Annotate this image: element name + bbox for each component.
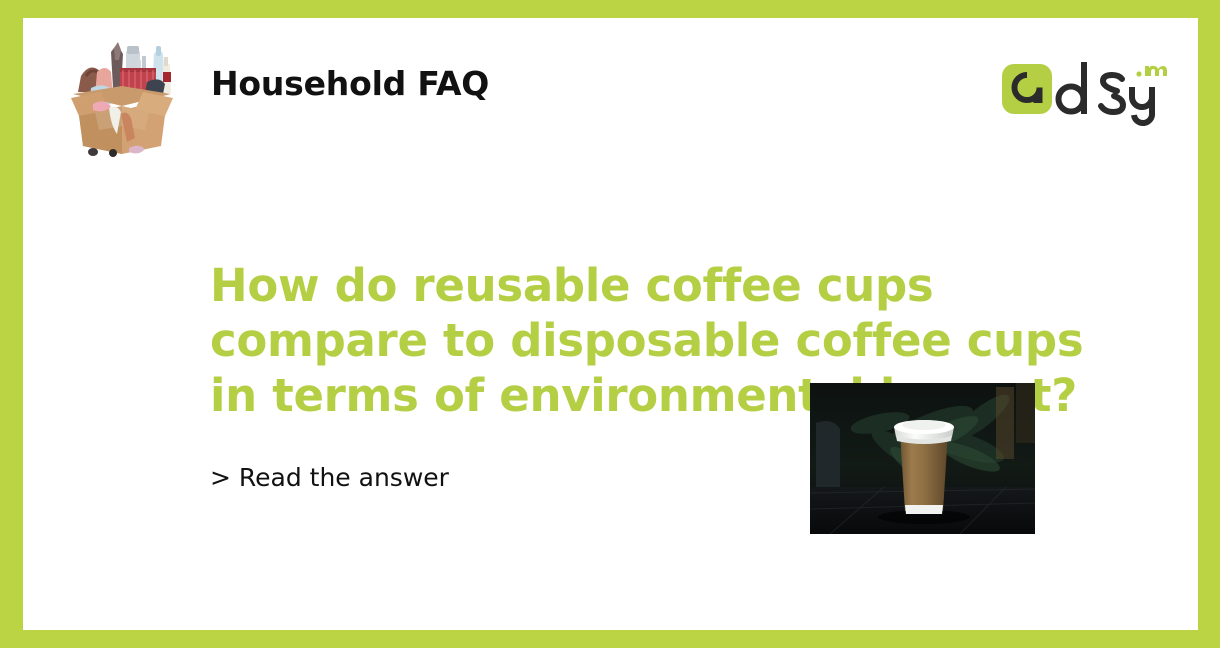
adsy-logo[interactable] xyxy=(1000,44,1168,134)
frame-border-right xyxy=(1198,0,1220,648)
household-box-icon xyxy=(51,30,193,158)
read-the-answer-link[interactable]: > Read the answer xyxy=(210,463,449,492)
card-body: How do reusable coffee cups compare to d… xyxy=(23,150,1198,630)
disposable-coffee-cup-photo xyxy=(810,383,1035,534)
frame-border-bottom xyxy=(0,630,1220,648)
card-header: Household FAQ xyxy=(23,18,1198,150)
faq-card: Household FAQ xyxy=(0,0,1220,648)
page-title: Household FAQ xyxy=(211,64,489,103)
frame-border-left xyxy=(0,0,23,648)
frame-border-top xyxy=(0,0,1220,18)
